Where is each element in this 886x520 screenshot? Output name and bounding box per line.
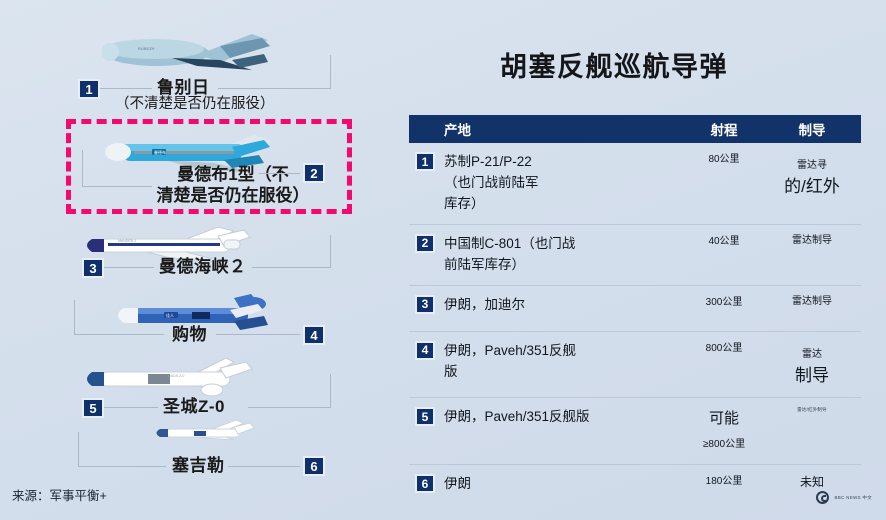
row-number-cell: 4 (409, 341, 444, 389)
row-number-cell: 1 (409, 152, 444, 215)
missile-sublabel-1: （不清楚是否仍在服役） (115, 96, 275, 113)
infographic-root: RUBEZH 1 鲁别日 （不清楚是否仍在服役） 曼德布 曼德布1型（不 清楚是… (0, 0, 886, 520)
row-guidance-cell: 雷达/红外制导 (769, 407, 855, 455)
row-range-cell: 300公里 (679, 295, 769, 322)
row-origin-cell: 中国制C-801（也门战 前陆军库存） (444, 234, 679, 276)
brand-logo: BBC NEWS 中文 (816, 491, 872, 504)
range-line-2: ≥800公里 (703, 439, 745, 450)
origin-line-3: 库存） (444, 196, 485, 211)
row-number-cell: 2 (409, 234, 444, 276)
table-row[interactable]: 1 苏制P-21/P-22 （也门战前陆军 库存） 80公里 雷达寻 的/红外 (409, 143, 861, 225)
connector-4-right (216, 334, 300, 335)
diagram-badge-3[interactable]: 3 (82, 258, 104, 278)
connector-3-right (252, 267, 330, 268)
table-row[interactable]: 5 伊朗，Paveh/351反舰版 可能 ≥800公里 雷达/红外制导 (409, 398, 861, 465)
origin-line-1: 中国制C-801（也门战 (444, 236, 575, 251)
origin-line-2: （也门战前陆军 (444, 175, 539, 190)
row-badge-6: 6 (415, 474, 435, 493)
table-header-origin: 产地 (444, 119, 679, 139)
table-row[interactable]: 3 伊朗，加迪尔 300公里 雷达制导 (409, 286, 861, 332)
diagram-badge-5[interactable]: 5 (82, 398, 104, 418)
row-range-cell: 可能 ≥800公里 (679, 407, 769, 455)
missile-label-5: 圣城Z-0 (163, 397, 225, 417)
row-badge-3: 3 (415, 295, 435, 314)
diagram-badge-6[interactable]: 6 (303, 456, 325, 476)
row-badge-1: 1 (415, 152, 435, 171)
source-note: 来源：军事平衡+ (12, 485, 107, 504)
svg-text:佳人: 佳人 (166, 312, 174, 318)
data-table-panel: 胡塞反舰巡航导弹 产地 射程 制导 1 苏制P-21/P-22 （也门战前陆军 … (400, 0, 886, 520)
page-title: 胡塞反舰巡航导弹 (500, 45, 728, 84)
row-origin-cell: 伊朗，加迪尔 (444, 295, 679, 322)
table-header-guidance: 制导 (769, 119, 855, 139)
table-row[interactable]: 2 中国制C-801（也门战 前陆军库存） 40公里 雷达制导 (409, 225, 861, 286)
missile-specs-table: 产地 射程 制导 1 苏制P-21/P-22 （也门战前陆军 库存） 80公里 … (409, 115, 861, 505)
row-origin-cell: 伊朗，Paveh/351反舰版 (444, 407, 679, 455)
missile-rubezh-art: RUBEZH (102, 22, 272, 80)
connector-1-vert (330, 55, 331, 89)
connector-4-left (74, 334, 164, 335)
row-number-cell: 6 (409, 474, 444, 496)
table-header-range: 射程 (679, 119, 769, 139)
connector-5-right (248, 407, 330, 408)
svg-text:RUBEZH: RUBEZH (138, 46, 155, 51)
row-origin-cell: 伊朗 (444, 474, 679, 496)
row-badge-5: 5 (415, 407, 435, 426)
logo-text: BBC NEWS 中文 (834, 495, 872, 501)
missile-diagram-panel: RUBEZH 1 鲁别日 （不清楚是否仍在服役） 曼德布 曼德布1型（不 清楚是… (0, 0, 392, 486)
row-origin-cell: 苏制P-21/P-22 （也门战前陆军 库存） (444, 152, 679, 215)
connector-6-right (228, 466, 300, 467)
row-guidance-cell: 雷达 制导 (769, 341, 855, 389)
table-row[interactable]: 4 伊朗，Paveh/351反舰 版 800公里 雷达 制导 (409, 332, 861, 399)
row-range-cell: 80公里 (679, 152, 769, 215)
row-badge-2: 2 (415, 234, 435, 253)
guidance-line-2: 的/红外 (784, 177, 840, 196)
connector-3-left (104, 267, 154, 268)
missile-sejjil-art (150, 418, 260, 450)
guidance-line-2: 制导 (795, 366, 829, 385)
svg-text:QUDS Z-0: QUDS Z-0 (168, 374, 184, 378)
table-header-row: 产地 射程 制导 (409, 115, 861, 143)
row-guidance-cell: 雷达制导 (769, 295, 855, 322)
connector-5-vert (330, 374, 331, 408)
diagram-badge-4[interactable]: 4 (303, 325, 325, 345)
connector-1-right (218, 88, 330, 89)
connector-4-vert (74, 300, 75, 334)
row-badge-4: 4 (415, 341, 435, 360)
range-line-1: 可能 (709, 410, 739, 427)
row-guidance-cell: 雷达寻 的/红外 (769, 152, 855, 215)
row-range-cell: 180公里 (679, 474, 769, 496)
guidance-line-1: 雷达 (802, 349, 822, 360)
connector-6-vert (78, 432, 79, 466)
origin-line-2: 版 (444, 364, 458, 379)
row-range-cell: 800公里 (679, 341, 769, 389)
globe-icon (816, 491, 829, 504)
selection-highlight-box (66, 119, 352, 214)
missile-label-6: 塞吉勒 (172, 456, 225, 476)
origin-line-2: 前陆军库存） (444, 257, 525, 272)
row-number-cell: 3 (409, 295, 444, 322)
connector-5-left (104, 407, 158, 408)
connector-1-left (100, 88, 152, 89)
row-origin-cell: 伊朗，Paveh/351反舰 版 (444, 341, 679, 389)
row-number-cell: 5 (409, 407, 444, 455)
origin-line-1: 伊朗，Paveh/351反舰 (444, 343, 576, 358)
connector-6-left (78, 466, 166, 467)
diagram-badge-1[interactable]: 1 (78, 79, 100, 99)
connector-3-vert (330, 235, 331, 268)
origin-line-1: 苏制P-21/P-22 (444, 154, 532, 169)
row-range-cell: 40公里 (679, 234, 769, 276)
missile-label-3: 曼德海峡２ (159, 257, 247, 277)
missile-label-4: 购物 (172, 325, 207, 345)
svg-text:MANDEB 2: MANDEB 2 (118, 239, 136, 243)
guidance-line-1: 雷达寻 (797, 160, 827, 171)
table-row[interactable]: 6 伊朗 180公里 未知 (409, 465, 861, 505)
row-guidance-cell: 雷达制导 (769, 234, 855, 276)
